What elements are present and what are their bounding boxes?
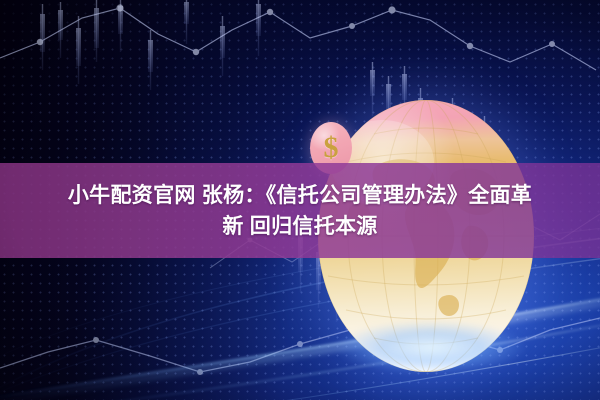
banner-image: $ 小牛配资官网 张杨：《信托公司管理办法》全面革 新 回归信托本源 <box>0 0 600 400</box>
vignette-overlay <box>0 0 600 400</box>
